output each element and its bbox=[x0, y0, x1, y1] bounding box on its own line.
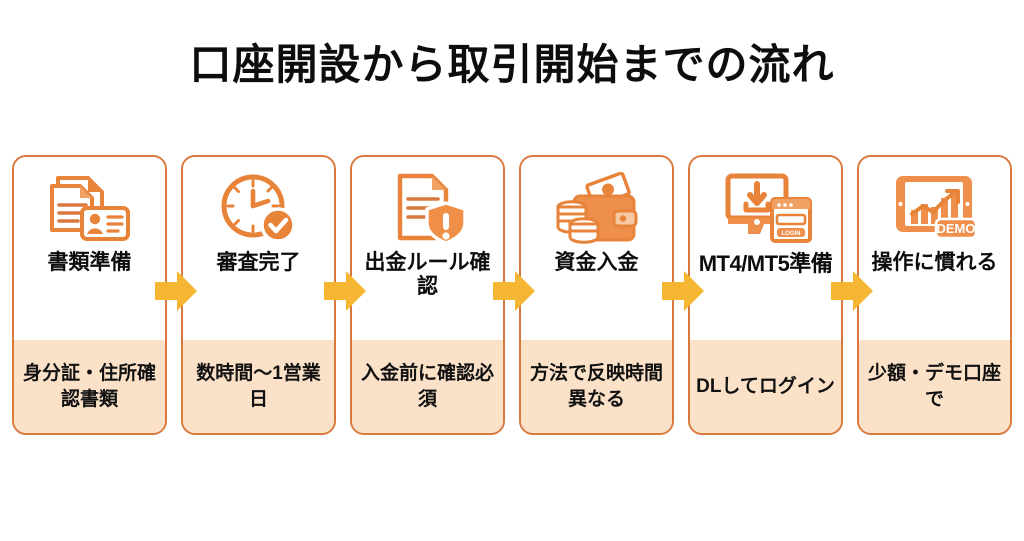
step-card-3-note: 入金前に確認必須 bbox=[352, 340, 503, 433]
flow-arrow-right-3 bbox=[493, 271, 535, 311]
step-card-2-body: 審査完了 bbox=[183, 157, 334, 340]
step-card-1-body: 書類準備 bbox=[14, 157, 165, 340]
step-card-6[interactable]: DEMO 操作に慣れる 少額・デモ口座で bbox=[857, 155, 1012, 435]
step-card-6-label: 操作に慣れる bbox=[868, 251, 1002, 275]
process-flow: 書類準備 身分証・住所確認書類 bbox=[12, 155, 1012, 437]
step-card-4-note: 方法で反映時間異なる bbox=[521, 340, 672, 433]
documents-id-card-icon bbox=[42, 171, 138, 245]
clock-check-icon bbox=[211, 171, 307, 245]
step-card-4[interactable]: 資金入金 方法で反映時間異なる bbox=[519, 155, 674, 435]
flow-arrow-right-2 bbox=[324, 271, 366, 311]
wallet-coins-icon bbox=[549, 171, 645, 245]
flow-arrow-right-4 bbox=[662, 271, 704, 311]
step-card-2[interactable]: 審査完了 数時間〜1営業日 bbox=[181, 155, 336, 435]
step-card-1[interactable]: 書類準備 身分証・住所確認書類 bbox=[12, 155, 167, 435]
step-card-3-label: 出金ルール確認 bbox=[352, 251, 503, 299]
flow-arrow-right-5 bbox=[831, 271, 873, 311]
step-card-4-label: 資金入金 bbox=[551, 251, 643, 275]
step-card-6-note: 少額・デモ口座で bbox=[859, 340, 1010, 433]
step-card-5[interactable]: LOGIN MT4/MT5準備 DLしてログイン bbox=[688, 155, 843, 435]
document-shield-alert-icon bbox=[380, 171, 476, 245]
page-title: 口座開設から取引開始までの流れ bbox=[0, 42, 1024, 88]
step-card-3-body: 出金ルール確認 bbox=[352, 157, 503, 340]
step-card-5-label: MT4/MT5準備 bbox=[695, 251, 837, 276]
step-card-3[interactable]: 出金ルール確認 入金前に確認必須 bbox=[350, 155, 505, 435]
step-card-1-label: 書類準備 bbox=[44, 251, 136, 275]
step-card-5-note: DLしてログイン bbox=[690, 340, 841, 433]
demo-badge-text: DEMO bbox=[936, 221, 975, 236]
step-card-1-note: 身分証・住所確認書類 bbox=[14, 340, 165, 433]
step-card-4-body: 資金入金 bbox=[521, 157, 672, 340]
tablet-chart-demo-icon: DEMO bbox=[887, 171, 983, 245]
step-card-5-body: LOGIN MT4/MT5準備 bbox=[690, 157, 841, 340]
step-card-2-note: 数時間〜1営業日 bbox=[183, 340, 334, 433]
step-card-2-label: 審査完了 bbox=[213, 251, 305, 275]
flow-arrow-right-1 bbox=[155, 271, 197, 311]
login-button-text: LOGIN bbox=[781, 231, 800, 237]
monitor-download-login-icon: LOGIN bbox=[718, 171, 814, 245]
step-card-6-body: DEMO 操作に慣れる bbox=[859, 157, 1010, 340]
